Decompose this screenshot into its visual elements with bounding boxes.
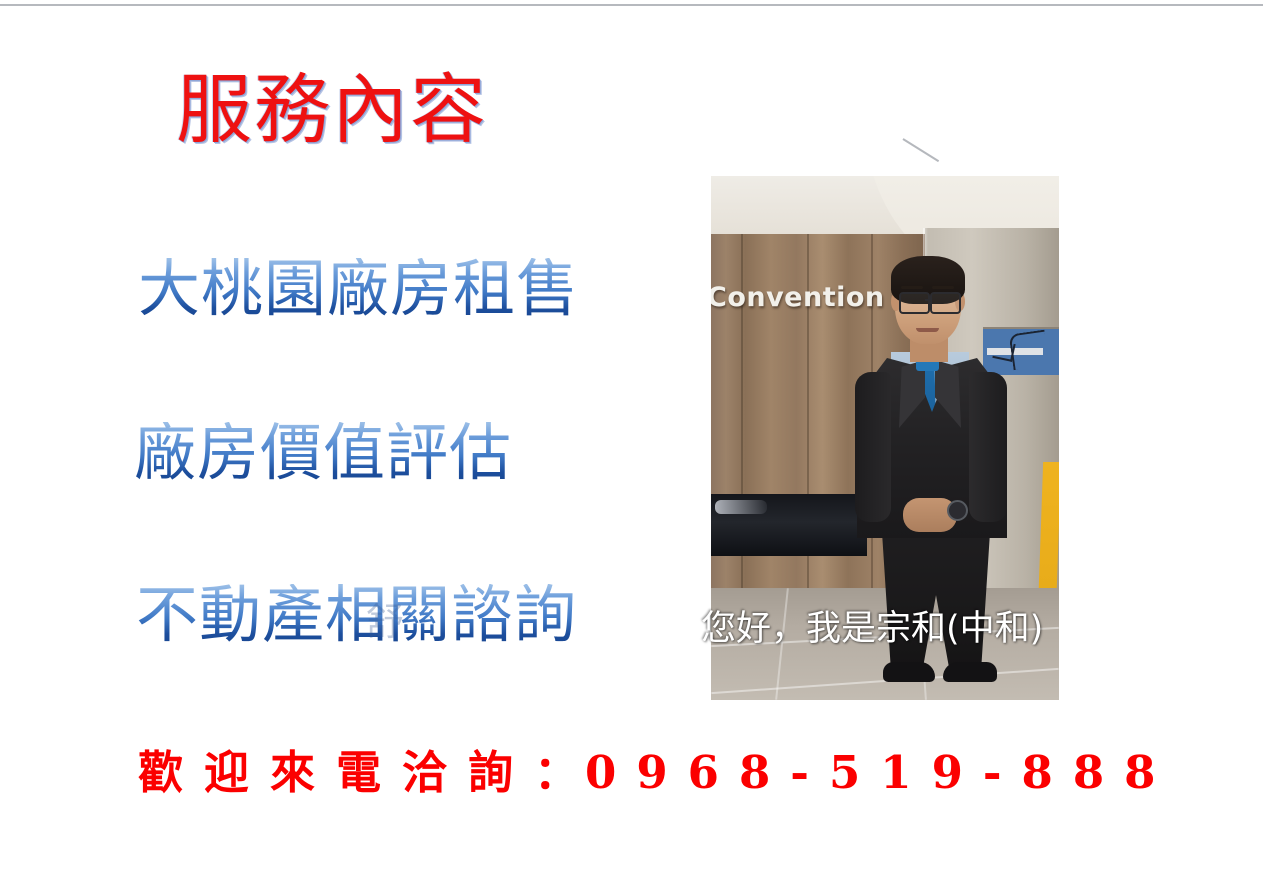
service-item-realestate-consulting: 不動產相關諮詢 — [136, 584, 577, 646]
person-mouth — [916, 328, 939, 332]
photo-poster-marking — [1009, 330, 1050, 371]
service-item-factory-lease-sale: 大桃園廠房租售 — [138, 258, 579, 320]
person-glasses-lens-right — [930, 292, 961, 314]
contact-call-to-action: 歡迎來電洽詢：0968-519-888 — [138, 750, 1176, 795]
person-eyebrow-right — [932, 286, 954, 289]
top-divider-rule — [0, 4, 1263, 6]
person-glasses-bridge — [925, 299, 931, 301]
cta-label: 歡迎來電洽詢 — [138, 746, 534, 799]
person-arm-left — [855, 372, 891, 522]
diagonal-scratch-artifact — [902, 138, 939, 162]
photo-glass-reflection — [715, 500, 767, 514]
slide-canvas: 服務內容 大桃園廠房租售 廠房價值評估 不動產相關諮詢 舒 Convention… — [0, 0, 1263, 891]
cta-colon: ： — [534, 746, 585, 799]
photo-poster-marking — [992, 340, 1015, 362]
person-shoe-right — [943, 662, 997, 682]
cta-phone-number: 0968-519-888 — [585, 746, 1175, 799]
person-eyebrow-left — [901, 286, 923, 289]
page-title: 服務內容 — [176, 72, 488, 148]
person-arm-right — [969, 372, 1007, 522]
person-shoe-left — [883, 662, 935, 682]
person-wristwatch — [947, 500, 968, 521]
person-glasses-lens-left — [899, 292, 930, 314]
photo-caption: 您好，我是宗和(中和) — [701, 612, 1043, 647]
service-item-factory-valuation: 廠房價值評估 — [134, 422, 512, 484]
